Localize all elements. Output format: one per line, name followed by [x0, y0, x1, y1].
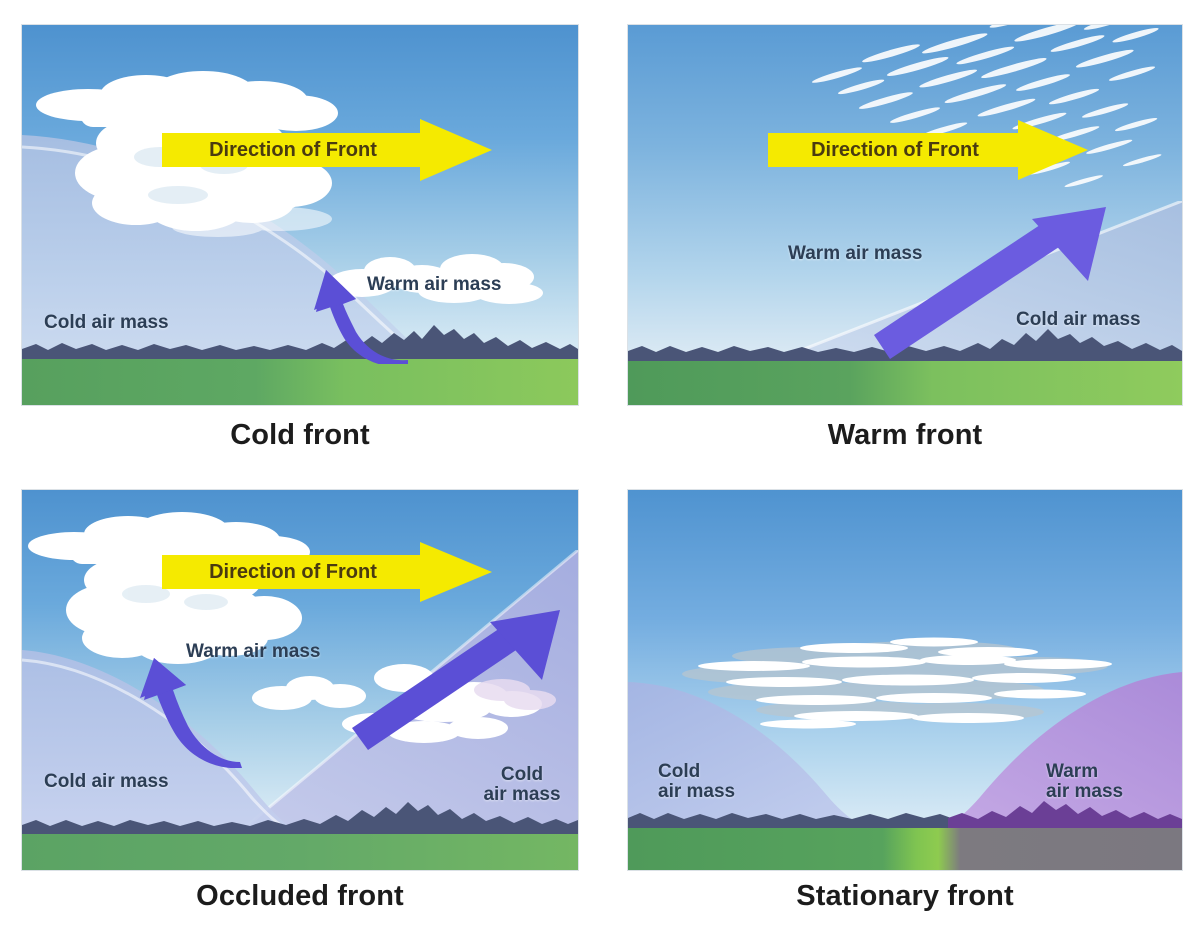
cold-air-mass-label-line2: air mass	[658, 781, 735, 802]
panel-occluded-front: Direction of Front Warm air m	[22, 490, 578, 870]
direction-of-front-arrow: Direction of Front	[162, 119, 492, 181]
panel-stationary-front: Cold air mass Warm air mass	[628, 490, 1182, 870]
cold-air-mass-label-left: Cold air mass	[44, 772, 169, 792]
cold-air-mass-label-right-line1: Cold	[501, 764, 543, 785]
cold-air-mass-label: Cold air mass	[1016, 310, 1141, 330]
stationary-front-scene: Cold air mass Warm air mass	[628, 490, 1182, 870]
warm-air-mass-label-line2: air mass	[1046, 781, 1123, 802]
cold-air-mass-label-right-line2: air mass	[483, 784, 560, 805]
caption-cold-front: Cold front	[22, 419, 578, 452]
direction-of-front-arrow: Direction of Front	[162, 542, 492, 602]
cold-air-mass-label: Cold air mass	[44, 313, 169, 333]
straight-flow-arrow	[872, 207, 1108, 359]
straight-flow-arrow	[350, 610, 562, 750]
warm-air-mass-label-line1: Warm	[1046, 761, 1098, 782]
ground-grass	[628, 355, 1182, 405]
warm-front-scene: Direction of Front Warm air mass Cold ai…	[628, 25, 1182, 405]
ground-grass	[22, 828, 578, 870]
direction-of-front-label: Direction of Front	[162, 542, 424, 602]
curved-flow-arrow	[134, 658, 254, 768]
panel-warm-front: Direction of Front Warm air mass Cold ai…	[628, 25, 1182, 405]
warm-air-mass-label: Warm air mass	[367, 275, 501, 295]
weather-fronts-figure: Direction of Front Cold air mass Warm ai…	[0, 0, 1200, 943]
ground-grass	[628, 822, 1182, 870]
ground-grass	[22, 353, 578, 405]
caption-warm-front: Warm front	[628, 419, 1182, 452]
cold-air-mass-label: Cold air mass	[658, 762, 788, 802]
warm-air-mass-label: Warm air mass	[788, 244, 922, 264]
panel-cold-front: Direction of Front Cold air mass Warm ai…	[22, 25, 578, 405]
direction-of-front-label: Direction of Front	[768, 120, 1022, 180]
direction-of-front-arrow: Direction of Front	[768, 120, 1088, 180]
occluded-front-scene: Direction of Front Warm air m	[22, 490, 578, 870]
direction-of-front-label: Direction of Front	[162, 119, 424, 181]
warm-air-mass-label: Warm air mass	[1046, 762, 1166, 802]
caption-occluded-front: Occluded front	[22, 880, 578, 913]
caption-stationary-front: Stationary front	[628, 880, 1182, 913]
cold-air-mass-label-line1: Cold	[658, 761, 700, 782]
warm-air-mass-label: Warm air mass	[186, 642, 320, 662]
cold-front-scene: Direction of Front Cold air mass Warm ai…	[22, 25, 578, 405]
cold-air-mass-label-right: Cold air mass	[472, 765, 572, 805]
